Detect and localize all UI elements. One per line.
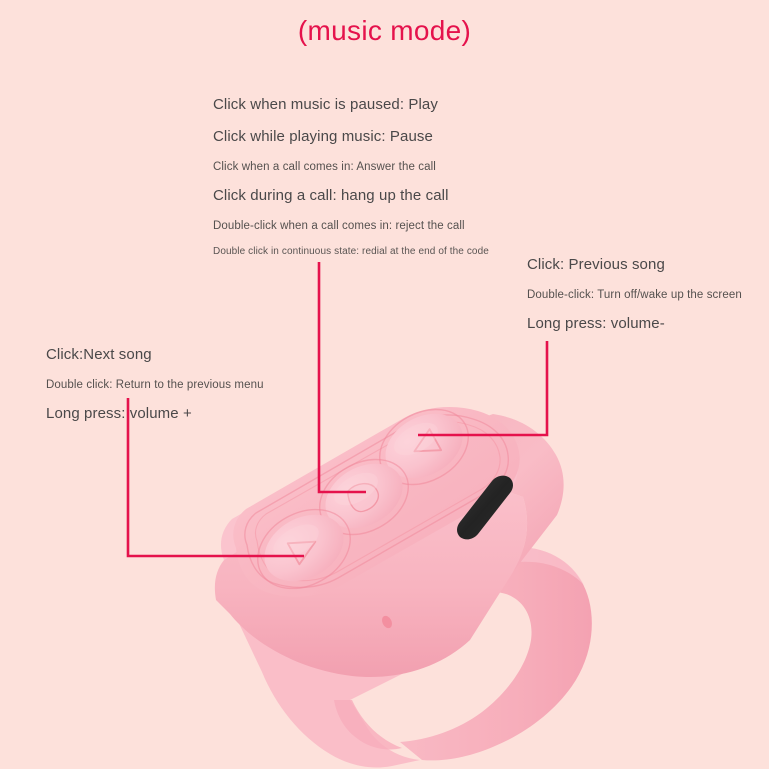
annotation-line: Click when a call comes in: Answer the c… xyxy=(213,160,489,174)
play-pause-button[interactable] xyxy=(306,444,421,549)
next-song-button[interactable] xyxy=(244,494,365,604)
device-body xyxy=(215,407,564,677)
triangle-left-icon xyxy=(409,429,442,462)
annotation-line: Click when music is paused: Play xyxy=(213,96,489,115)
annotation-line: Long press: volume- xyxy=(527,315,742,334)
triangle-right-icon xyxy=(288,531,322,564)
annotation-line: Long press: volume + xyxy=(46,405,264,424)
play-pause-button-annotation: Click when music is paused: Play Click w… xyxy=(213,96,489,259)
previous-song-button[interactable] xyxy=(366,394,481,499)
annotation-line: Click:Next song xyxy=(46,346,264,365)
diagram-canvas: (music mode) Click when music is paused:… xyxy=(0,0,769,769)
charging-slot xyxy=(457,476,513,540)
annotation-line: Click while playing music: Pause xyxy=(213,128,489,147)
leader-line-center xyxy=(319,262,366,492)
page-title: (music mode) xyxy=(0,14,769,48)
leader-line-right xyxy=(418,341,547,435)
previous-song-button-annotation: Click: Previous song Double-click: Turn … xyxy=(527,256,742,334)
annotation-line: Double-click: Turn off/wake up the scree… xyxy=(527,288,742,302)
annotation-line: Double click in continuous state: redial… xyxy=(213,246,489,259)
device-lower-body xyxy=(227,598,470,768)
annotation-line: Click: Previous song xyxy=(527,256,742,275)
next-song-button-annotation: Click:Next song Double click: Return to … xyxy=(46,346,264,424)
indicator-pinhole xyxy=(380,614,394,630)
annotation-line: Double-click when a call comes in: rejec… xyxy=(213,219,489,233)
annotation-line: Double click: Return to the previous men… xyxy=(46,378,264,392)
finger-ring-band xyxy=(400,547,592,760)
annotation-line: Click during a call: hang up the call xyxy=(213,187,489,206)
rounded-blob-icon xyxy=(344,478,383,516)
